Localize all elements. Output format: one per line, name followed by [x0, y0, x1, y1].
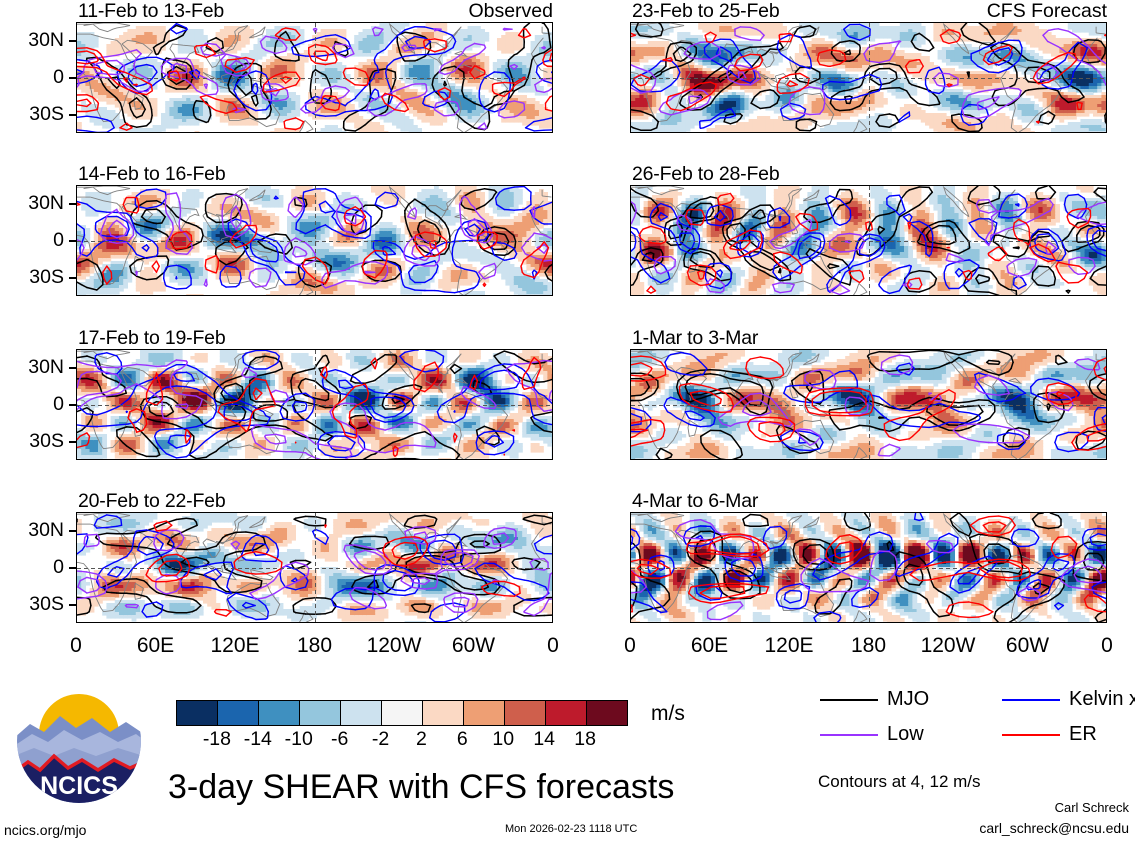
x-axis-label: 120W [908, 634, 988, 658]
colorbar-swatch [341, 701, 382, 725]
colorbar-swatch [300, 701, 341, 725]
x-axis-label: 60W [434, 634, 514, 658]
y-axis-label: 30N [0, 29, 64, 52]
map-canvas [631, 23, 1107, 133]
map-panel[interactable] [76, 349, 553, 460]
legend-line-swatch [1002, 734, 1060, 736]
legend-label: Kelvin x2 [1069, 688, 1135, 711]
x-axis-label: 0 [1067, 634, 1135, 658]
panel-title: 23-Feb to 25-Feb [632, 0, 779, 23]
logo-text: NCICS [40, 772, 118, 800]
page-title: 3-day SHEAR with CFS forecasts [168, 768, 674, 807]
author-email[interactable]: carl_schreck@ncsu.edu [979, 820, 1129, 836]
map-canvas [77, 186, 553, 296]
y-axis-label: 30S [0, 266, 64, 289]
map-canvas [77, 350, 553, 460]
y-axis-tick [69, 114, 77, 116]
x-axis-label: 120E [195, 634, 275, 658]
colorbar-swatch [505, 701, 546, 725]
y-axis-label: 30N [0, 356, 64, 379]
y-axis-tick [69, 277, 77, 279]
panel-title: 17-Feb to 19-Feb [78, 327, 225, 350]
map-panel[interactable] [630, 512, 1107, 623]
x-axis-label: 0 [590, 634, 670, 658]
panel-title: 4-Mar to 6-Mar [632, 490, 758, 513]
colorbar-swatch [423, 701, 464, 725]
y-axis-label: 30S [0, 103, 64, 126]
map-panel[interactable] [76, 185, 553, 296]
y-axis-tick [69, 40, 77, 42]
legend-item-kelvin-x2: Kelvin x2 [1002, 688, 1135, 711]
colorbar-swatch [177, 701, 218, 725]
y-axis-label: 0 [0, 66, 64, 89]
x-axis-label: 120E [749, 634, 829, 658]
legend-line-swatch [820, 734, 878, 736]
colorbar-swatch [546, 701, 587, 725]
panel-title: 11-Feb to 13-Feb [78, 0, 224, 23]
y-axis-tick [69, 404, 77, 406]
map-panel[interactable] [630, 185, 1107, 296]
map-canvas [631, 186, 1107, 296]
ncics-logo: NCICS [14, 676, 144, 811]
y-axis-label: 30S [0, 593, 64, 616]
x-axis-label: 0 [513, 634, 593, 658]
colorbar-swatch [218, 701, 259, 725]
legend-label: MJO [887, 688, 929, 711]
x-axis-label: 120W [354, 634, 434, 658]
x-axis-label: 60W [988, 634, 1068, 658]
colorbar-swatch [259, 701, 300, 725]
legend-item-mjo: MJO [820, 688, 929, 711]
x-axis-label: 60E [670, 634, 750, 658]
map-canvas [631, 350, 1107, 460]
panel-title: 1-Mar to 3-Mar [632, 327, 758, 350]
site-url[interactable]: ncics.org/mjo [4, 822, 86, 838]
x-axis-label: 0 [36, 634, 116, 658]
legend-line-swatch [1002, 699, 1060, 701]
legend-item-low: Low [820, 723, 924, 746]
colorbar-swatch [464, 701, 505, 725]
y-axis-label: 30N [0, 192, 64, 215]
y-axis-tick [69, 203, 77, 205]
x-axis-label: 180 [829, 634, 909, 658]
panel-title: 14-Feb to 16-Feb [78, 163, 225, 186]
y-axis-tick [69, 530, 77, 532]
colorbar-unit-label: m/s [651, 702, 685, 726]
y-axis-tick [69, 441, 77, 443]
map-panel[interactable] [630, 349, 1107, 460]
timestamp: Mon 2026-02-23 1118 UTC [505, 823, 637, 835]
y-axis-label: 0 [0, 229, 64, 252]
map-panel[interactable] [76, 512, 553, 623]
map-canvas [77, 513, 553, 623]
colorbar [176, 700, 628, 726]
panel-tag: CFS Forecast [957, 0, 1107, 23]
y-axis-tick [69, 367, 77, 369]
legend-label: Low [887, 723, 924, 746]
colorbar-tick-label: 18 [555, 728, 615, 751]
map-canvas [77, 23, 553, 133]
legend-label: ER [1069, 723, 1097, 746]
colorbar-swatch [382, 701, 423, 725]
panel-title: 20-Feb to 22-Feb [78, 490, 225, 513]
panel-tag: Observed [403, 0, 553, 23]
panel-title: 26-Feb to 28-Feb [632, 163, 779, 186]
y-axis-label: 30S [0, 430, 64, 453]
colorbar-swatch [587, 701, 627, 725]
map-canvas [631, 513, 1107, 623]
y-axis-tick [69, 604, 77, 606]
y-axis-label: 0 [0, 393, 64, 416]
y-axis-tick [69, 567, 77, 569]
map-panel[interactable] [630, 22, 1107, 133]
y-axis-label: 0 [0, 556, 64, 579]
legend-item-er: ER [1002, 723, 1097, 746]
y-axis-tick [69, 77, 77, 79]
y-axis-label: 30N [0, 519, 64, 542]
contour-note: Contours at 4, 12 m/s [818, 772, 981, 792]
x-axis-label: 60E [116, 634, 196, 658]
legend-line-swatch [820, 699, 878, 701]
x-axis-label: 180 [275, 634, 355, 658]
y-axis-tick [69, 240, 77, 242]
map-panel[interactable] [76, 22, 553, 133]
author-name: Carl Schreck [1055, 800, 1129, 815]
